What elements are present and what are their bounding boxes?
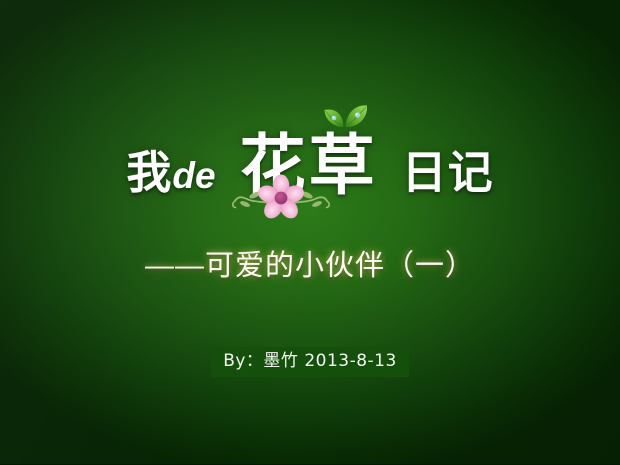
page-title: 我de花草日记 (0, 132, 620, 198)
byline-container: By：墨竹 2013-8-13 (0, 347, 620, 377)
title-part-wo: 我 (126, 150, 172, 195)
title-part-de: de (172, 157, 215, 194)
slide-subtitle: ——可爱的小伙伴（一） (0, 242, 620, 284)
title-part-huacao: 花草 (240, 132, 378, 198)
presentation-title-slide: 我de花草日记 (0, 0, 620, 465)
byline-text: By：墨竹 2013-8-13 (211, 347, 409, 377)
title-part-riji: 日记 (402, 150, 494, 195)
